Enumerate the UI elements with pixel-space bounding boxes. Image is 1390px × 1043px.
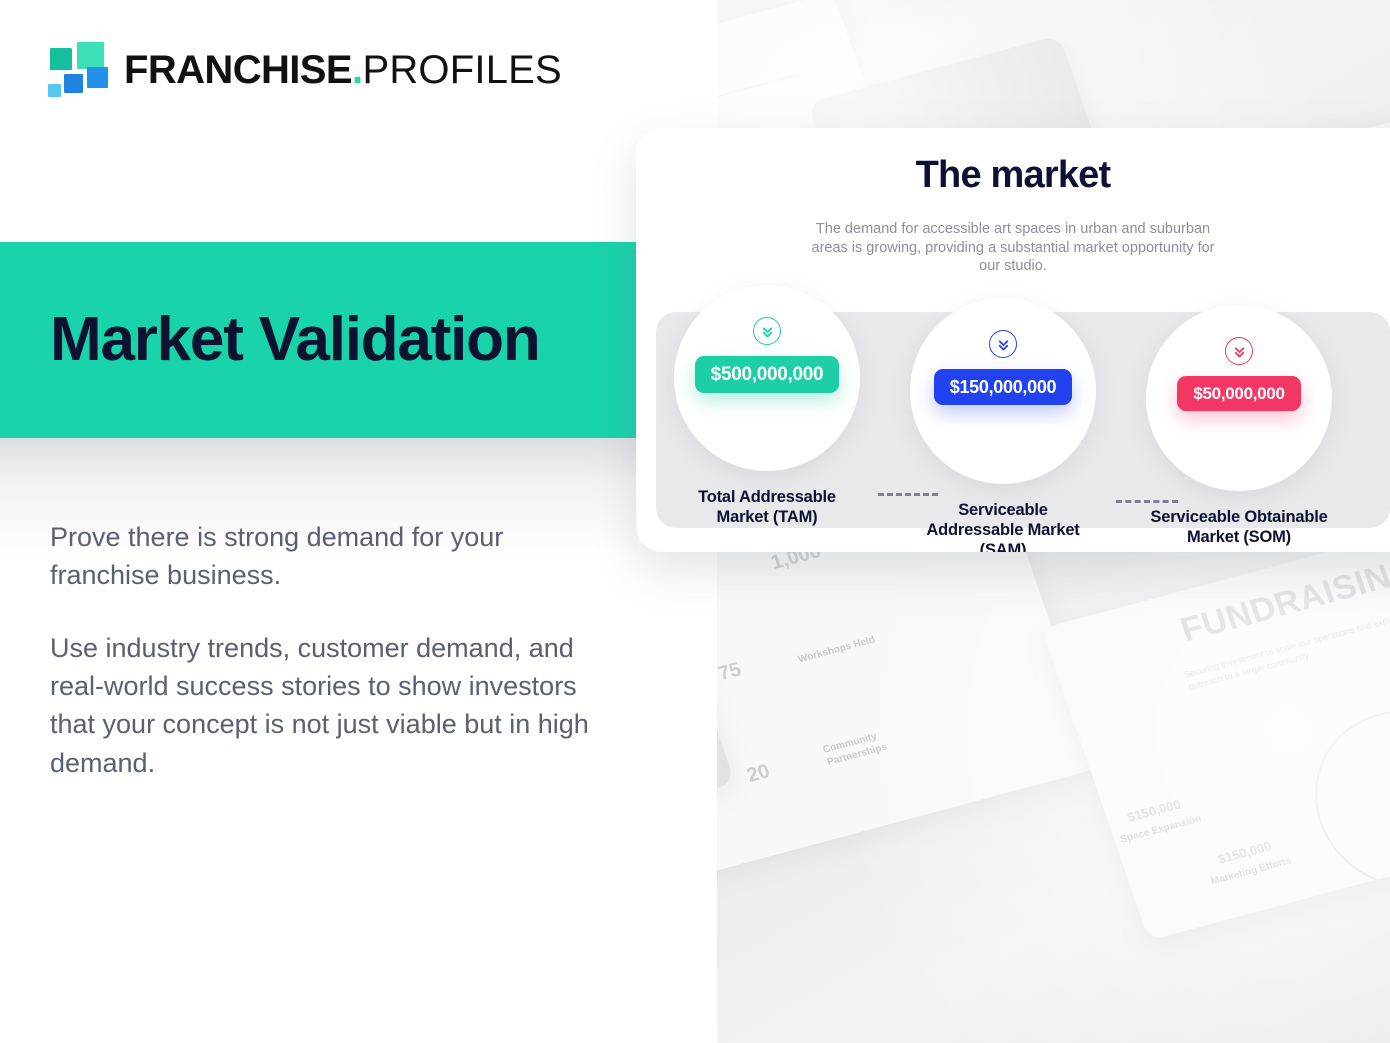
paragraph-1: Prove there is strong demand for your fr… (50, 518, 595, 595)
tier-label: Serviceable Obtainable Market (SOM) (1146, 507, 1332, 547)
chevrons-down-circle-icon[interactable] (753, 317, 781, 345)
collage-number: 20 (744, 760, 773, 788)
divider (716, 74, 798, 135)
chevrons-down-circle-icon[interactable] (1225, 337, 1253, 365)
logo-square-1 (50, 48, 72, 70)
paragraph-2: Use industry trends, customer demand, an… (50, 629, 595, 782)
logo-square-2 (77, 42, 104, 69)
collage-slide-fundraising: FUNDRAISING Securing investment to scale… (1042, 517, 1390, 941)
collage-label: Community Partnerships (822, 717, 937, 769)
market-card-subtitle: The demand for accessible art spaces in … (807, 220, 1219, 276)
body-copy: Prove there is strong demand for your fr… (50, 518, 595, 782)
tier-bubble: $50,000,000 (1146, 305, 1332, 491)
tier-value-badge: $500,000,000 (695, 356, 840, 393)
page-title: Market Validation (50, 309, 540, 371)
tier-value-badge: $150,000,000 (934, 369, 1073, 405)
market-tier-tam[interactable]: $500,000,000 Total Addressable Market (T… (674, 285, 860, 527)
logo-dot: . (352, 48, 363, 92)
logo-word-franchise: FRANCHISE (124, 48, 352, 92)
logo-wordmark: FRANCHISE.PROFILES (124, 50, 562, 90)
tier-label: Total Addressable Market (TAM) (674, 487, 860, 527)
logo-word-profiles: PROFILES (362, 48, 561, 92)
logo-mark-squares-icon (48, 42, 110, 98)
logo-square-4 (87, 67, 108, 88)
market-tier-som[interactable]: $50,000,000 Serviceable Obtainable Marke… (1146, 305, 1332, 547)
logo-square-3 (64, 74, 83, 93)
title-banner: Market Validation (0, 242, 637, 438)
tier-bubble: $500,000,000 (674, 285, 860, 471)
market-tiers: $500,000,000 Total Addressable Market (T… (656, 273, 1390, 543)
brand-logo[interactable]: FRANCHISE.PROFILES (48, 42, 562, 98)
tier-bubble: $150,000,000 (910, 298, 1096, 484)
tier-label: Serviceable Addressable Market (SAM) (910, 500, 1096, 552)
donut-chart-icon (1291, 691, 1390, 908)
tier-value-badge: $50,000,000 (1177, 376, 1300, 411)
chevrons-down-circle-icon[interactable] (989, 330, 1017, 358)
collage-number: 75 (716, 659, 744, 687)
market-tier-sam[interactable]: $150,000,000 Serviceable Addressable Mar… (910, 298, 1096, 552)
slide-canvas: Drop-in Fees Session Workshops Commissio… (0, 0, 1390, 1043)
market-card-title: The market (636, 154, 1390, 197)
left-content-column: FRANCHISE.PROFILES Market Validation Pro… (0, 0, 717, 1043)
collage-label: Workshops Held (797, 634, 877, 666)
market-card: The market The demand for accessible art… (636, 128, 1390, 552)
logo-square-5 (48, 84, 61, 97)
